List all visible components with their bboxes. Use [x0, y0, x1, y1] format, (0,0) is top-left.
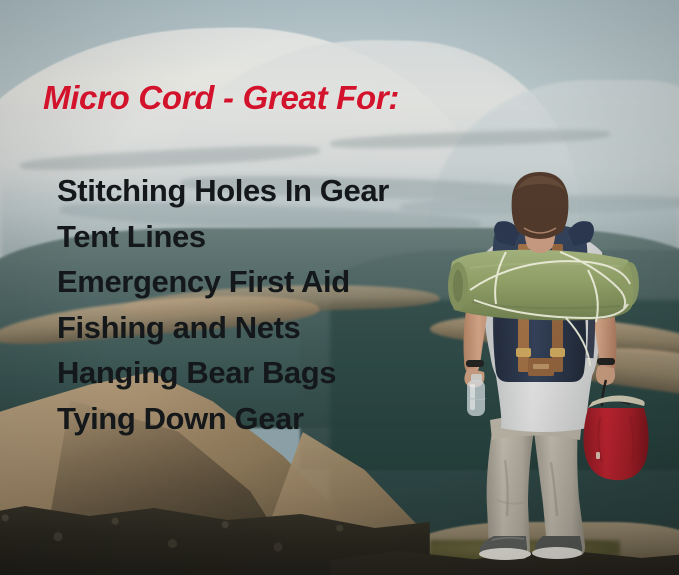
list-item: Stitching Holes In Gear — [57, 168, 389, 214]
list-item: Fishing and Nets — [57, 305, 389, 351]
list-item: Hanging Bear Bags — [57, 350, 389, 396]
page-title: Micro Cord - Great For: — [43, 79, 399, 117]
use-case-list: Stitching Holes In Gear Tent Lines Emerg… — [57, 168, 389, 441]
list-item: Emergency First Aid — [57, 259, 389, 305]
rock-texture — [0, 492, 410, 575]
list-item: Tying Down Gear — [57, 396, 389, 442]
product-graphic: Micro Cord - Great For: Stitching Holes … — [0, 0, 679, 575]
list-item: Tent Lines — [57, 214, 389, 260]
